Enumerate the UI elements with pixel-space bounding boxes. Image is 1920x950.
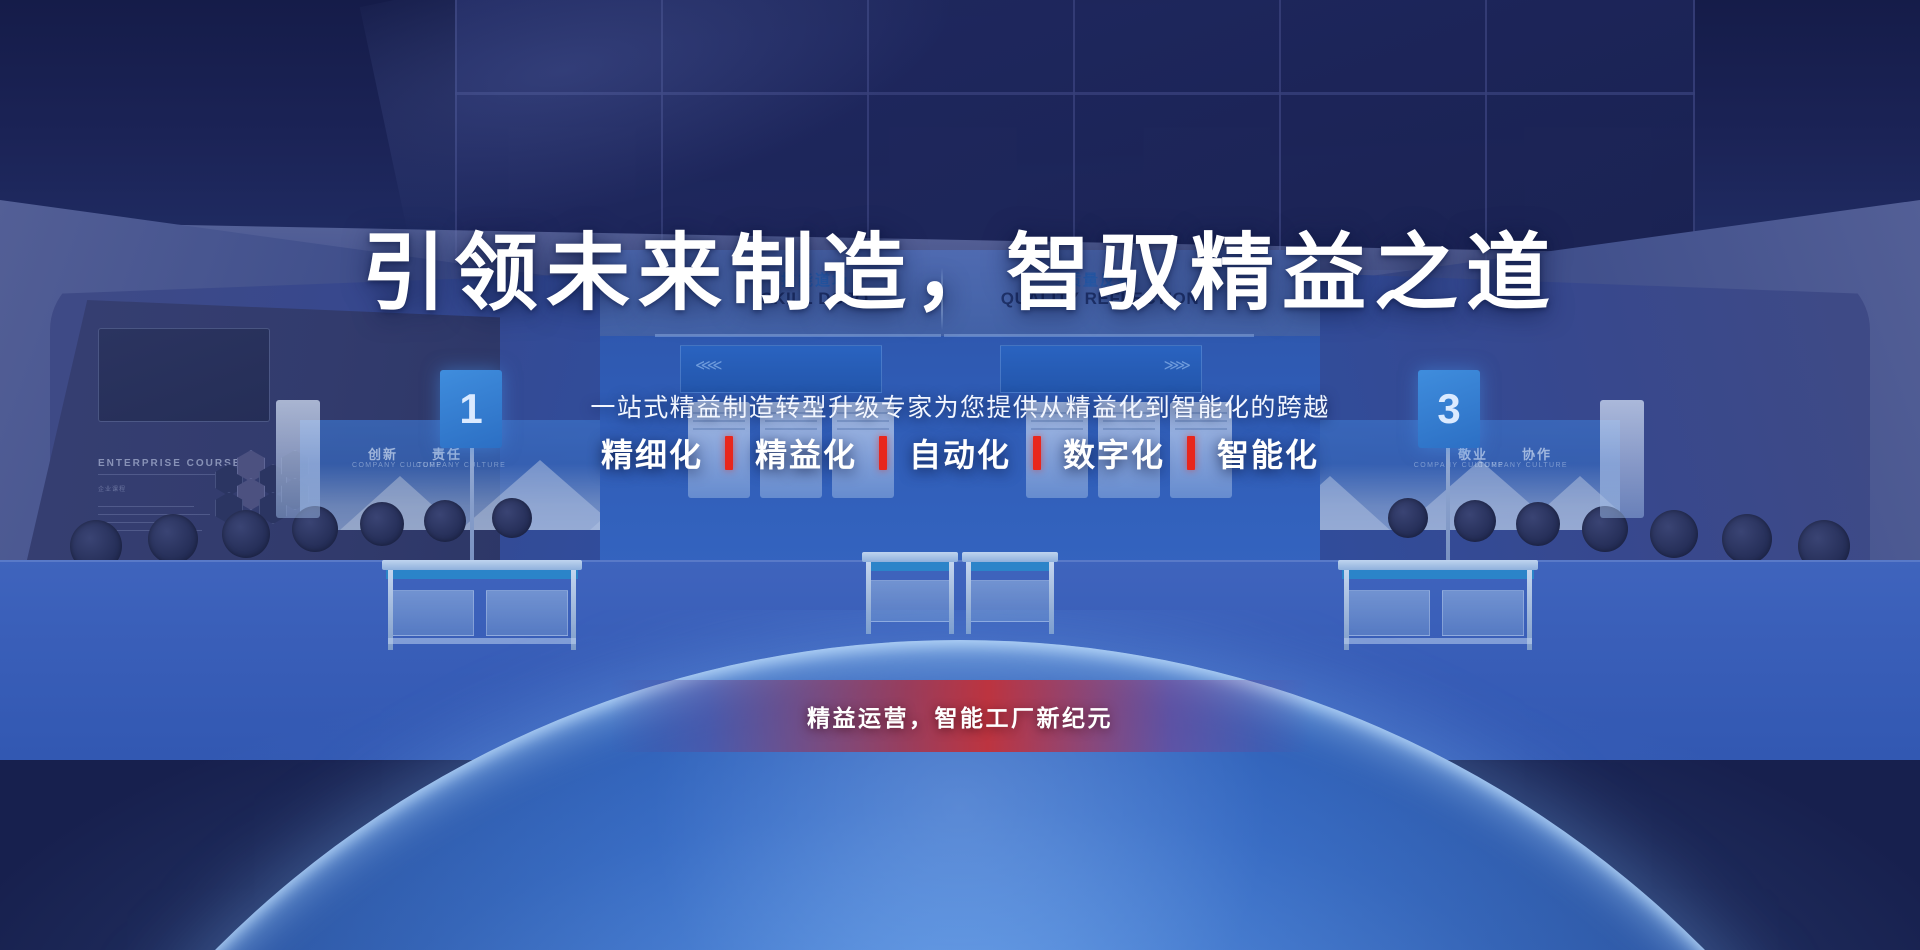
keyword-item: 精益化	[755, 430, 857, 476]
keyword-item: 智能化	[1217, 430, 1319, 476]
hero-subtitle: 一站式精益制造转型升级专家为您提供从精益化到智能化的跨越	[0, 388, 1920, 424]
keyword-separator-icon	[1033, 436, 1041, 470]
tagline-text: 精益运营，智能工厂新纪元	[807, 699, 1113, 733]
keyword-separator-icon	[1187, 436, 1195, 470]
hero-content: 引领未来制造，智驭精益之道 一站式精益制造转型升级专家为您提供从精益化到智能化的…	[0, 0, 1920, 950]
keyword-item: 自动化	[909, 430, 1011, 476]
page-title: 引领未来制造，智驭精益之道	[0, 206, 1920, 327]
tagline-ribbon: 精益运营，智能工厂新纪元	[610, 680, 1310, 752]
keyword-list: 精细化 精益化 自动化 数字化 智能化	[0, 430, 1920, 476]
keyword-item: 精细化	[601, 430, 703, 476]
keyword-separator-icon	[879, 436, 887, 470]
keyword-item: 数字化	[1063, 430, 1165, 476]
keyword-separator-icon	[725, 436, 733, 470]
hero-banner: ENTERPRISE COURSE 企业课程 创新 COMPANY CUL	[0, 0, 1920, 950]
